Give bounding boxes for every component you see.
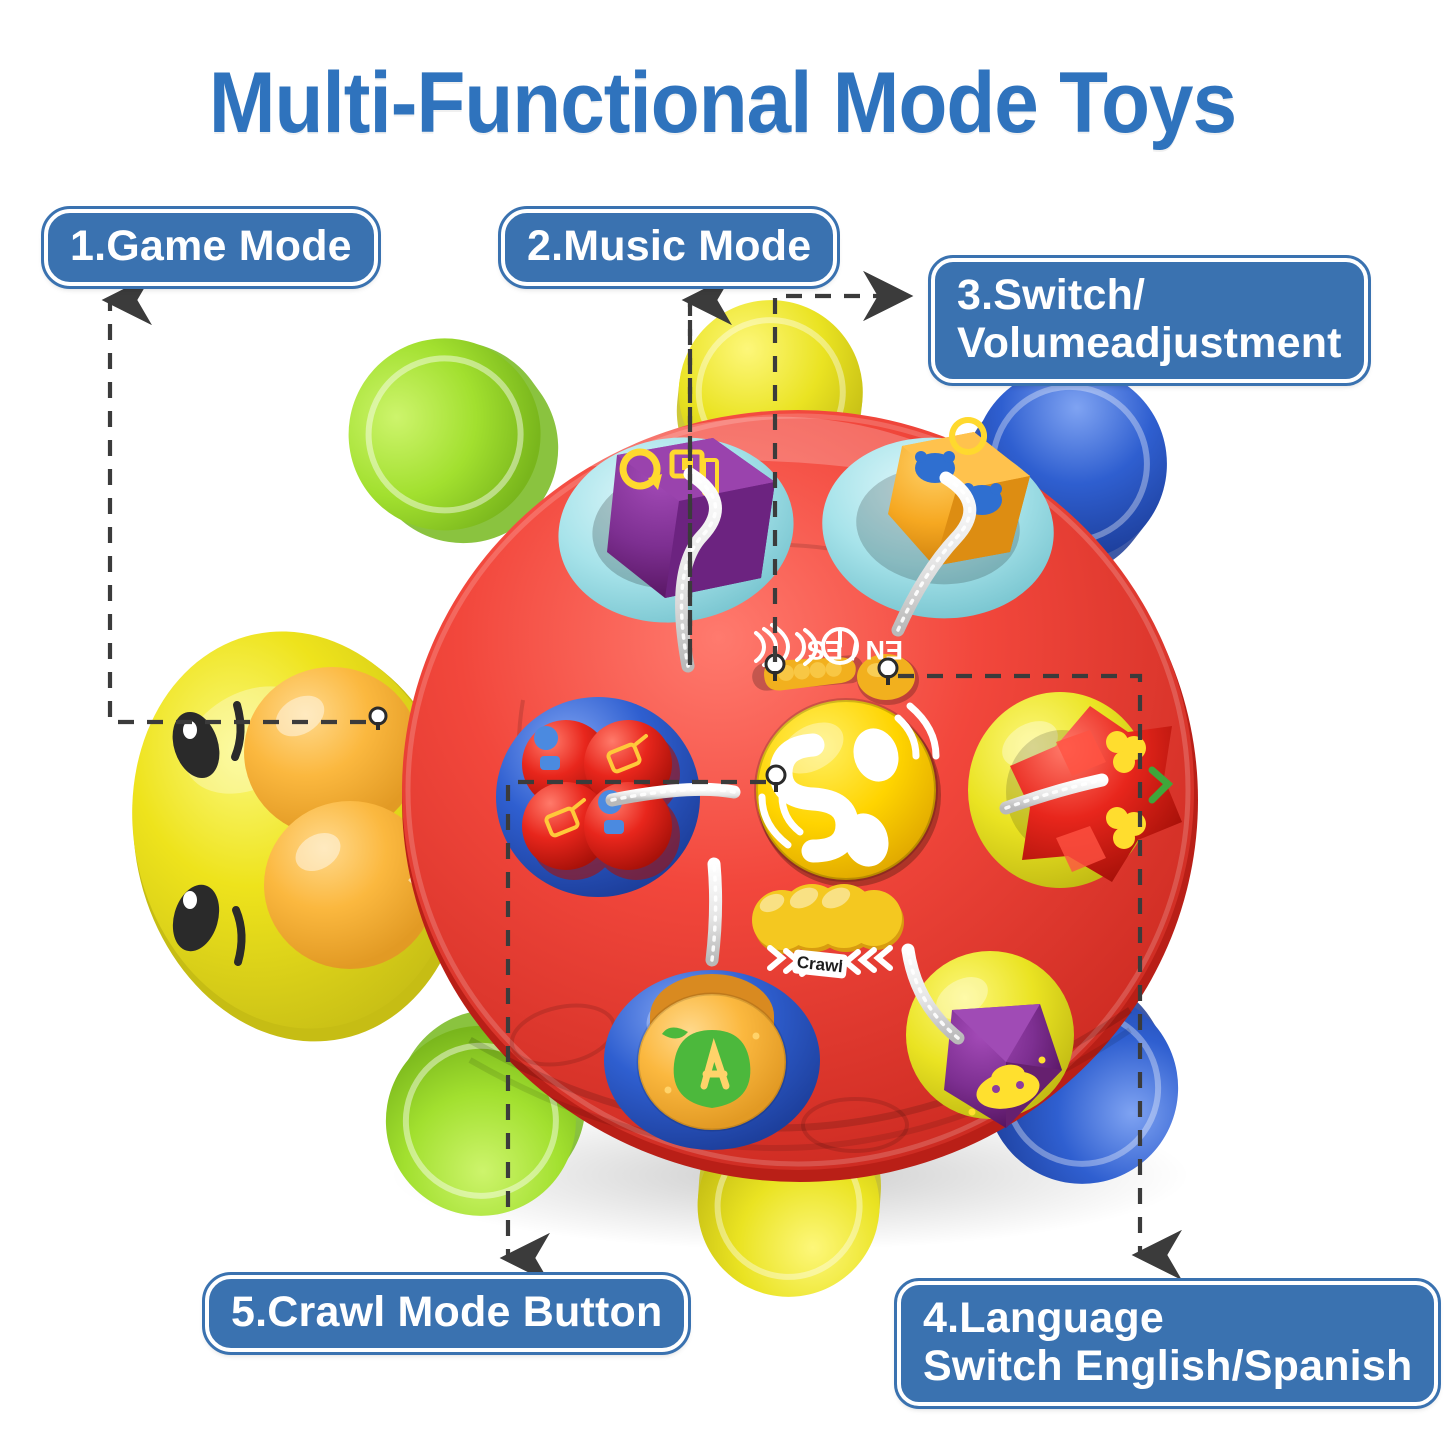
- infographic-canvas: Multi-Functional Mode Toys: [0, 0, 1445, 1445]
- callout-2-music-mode[interactable]: 2.Music Mode: [501, 209, 837, 286]
- callout-3-switch-volume[interactable]: 3.Switch/ Volumeadjustment: [931, 258, 1368, 383]
- leader-3: [775, 296, 905, 662]
- callout-1-game-mode[interactable]: 1.Game Mode: [44, 209, 378, 286]
- leader-2: [690, 300, 784, 681]
- callout-5-crawl-mode-button[interactable]: 5.Crawl Mode Button: [205, 1275, 688, 1352]
- leader-4: [879, 659, 1140, 1255]
- leader-5: [508, 766, 785, 1258]
- leader-1: [110, 300, 386, 730]
- callout-4-language-switch[interactable]: 4.Language Switch English/Spanish: [897, 1281, 1438, 1406]
